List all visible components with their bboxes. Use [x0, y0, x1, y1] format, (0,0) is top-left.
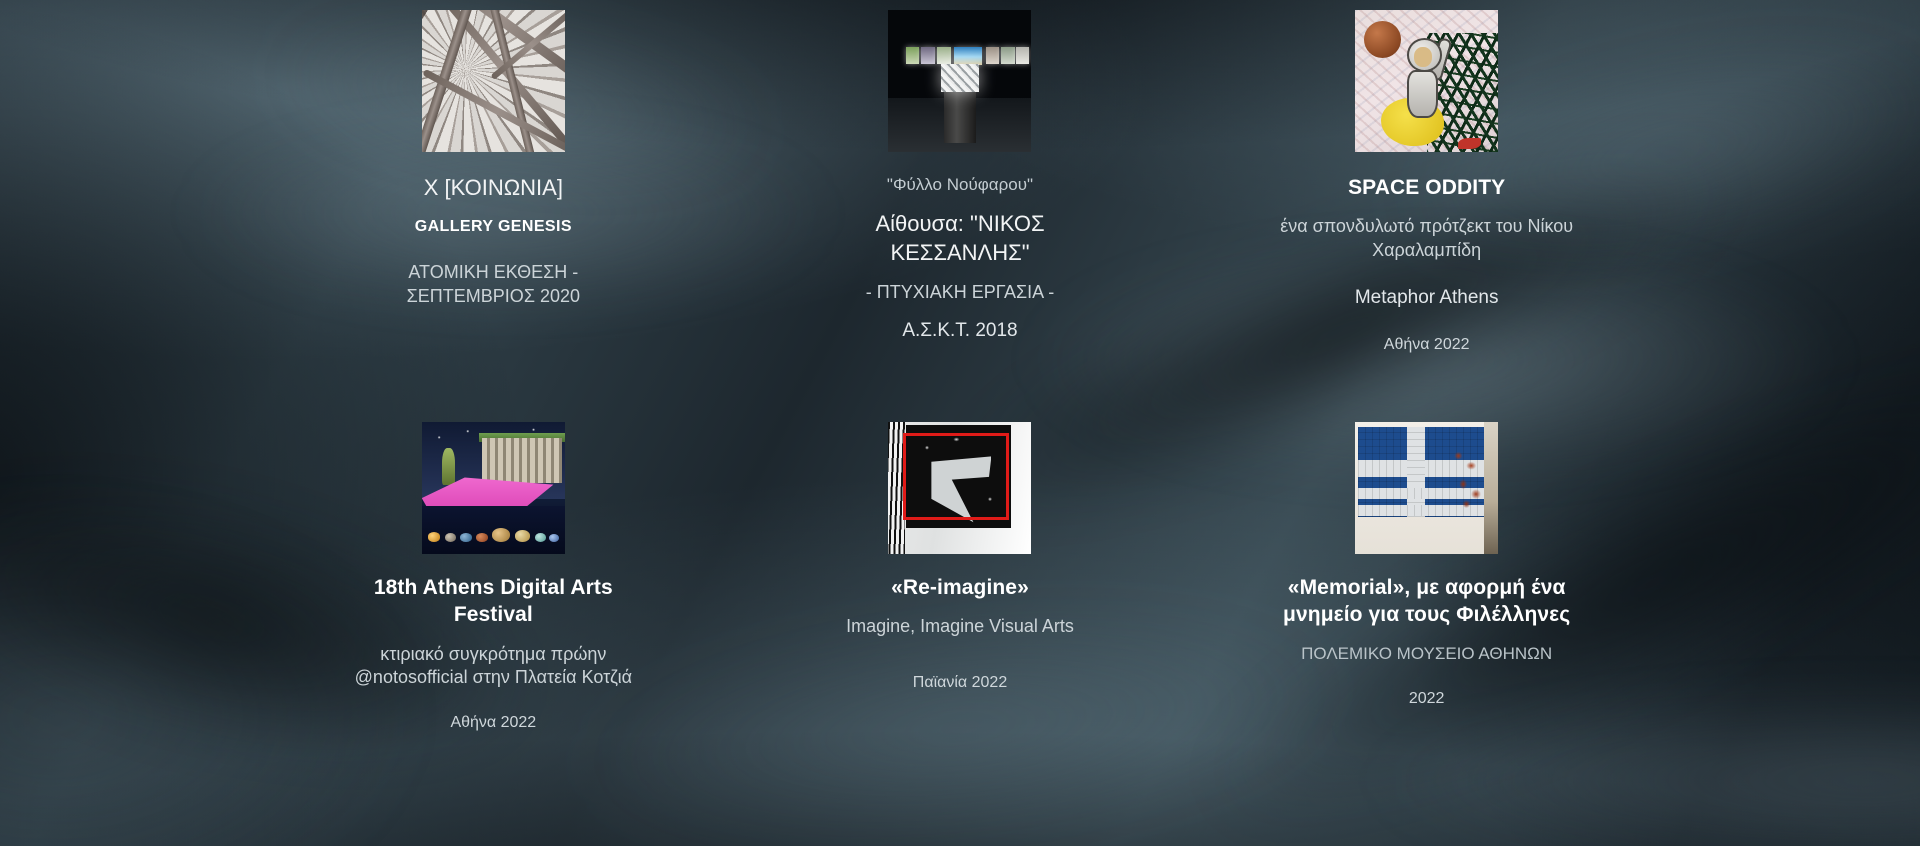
card-detail-line-1: - ΠΤΥΧΙΑΚΗ ΕΡΓΑΣΙΑ - — [727, 281, 1194, 304]
rust-stain — [1452, 443, 1483, 514]
parthenon-columns — [482, 438, 562, 483]
artwork-image — [422, 422, 565, 554]
cracked-branches-artwork-thumbnail[interactable] — [422, 10, 565, 152]
card-title: «Re-imagine» — [727, 574, 1194, 601]
card-caption: Χ [ΚΟΙΝΩΝΙΑ] GALLERY GENESIS ΑΤΟΜΙΚΗ ΕΚΘ… — [260, 174, 727, 308]
gallery-card-space-oddity[interactable]: SPACE ODDITY ένα σπονδυλωτό πρότζεκτ του… — [1193, 0, 1660, 408]
gallery-card-athens-digital-arts-festival[interactable]: 18th Athens Digital Arts Festival κτιρια… — [260, 408, 727, 846]
gallery-card-x-koinonia[interactable]: Χ [ΚΟΙΝΩΝΙΑ] GALLERY GENESIS ΑΤΟΜΙΚΗ ΕΚΘ… — [260, 0, 727, 408]
artwork-image — [888, 10, 1031, 152]
portfolio-grid: Χ [ΚΟΙΝΩΝΙΑ] GALLERY GENESIS ΑΤΟΜΙΚΗ ΕΚΘ… — [0, 0, 1920, 846]
card-caption: «Memorial», με αφορμή ένα μνημείο για το… — [1193, 574, 1660, 709]
dark-gallery-room-thumbnail[interactable] — [888, 10, 1031, 152]
card-subtitle: GALLERY GENESIS — [260, 217, 727, 238]
planet-icon — [549, 534, 559, 542]
card-title-line-1: «Memorial», με αφορμή ένα — [1193, 574, 1660, 601]
card-title-line-2: Festival — [260, 601, 727, 628]
astronaut-face — [1414, 47, 1433, 67]
pedestal — [944, 90, 975, 144]
card-detail-line-2: Χαραλαμπίδη — [1193, 239, 1660, 262]
card-detail-line-1: ένα σπονδυλωτό πρότζεκτ του Νίκου — [1193, 215, 1660, 238]
wall-edge — [1484, 422, 1498, 554]
planet-icon — [476, 533, 487, 542]
card-detail-line-2: Α.Σ.Κ.Τ. 2018 — [727, 319, 1194, 344]
card-title-line-1: Αίθουσα: "ΝΙΚΟΣ — [727, 210, 1194, 239]
card-detail-line-1: ΑΤΟΜΙΚΗ ΕΚΘΕΣΗ - — [260, 261, 727, 284]
planet-icon — [445, 533, 456, 542]
artwork-image — [888, 422, 1031, 554]
card-detail-line-2: @notosofficial στην Πλατεία Κοτζιά — [260, 666, 727, 689]
wall-frame — [1001, 47, 1015, 64]
wall-frame — [1016, 47, 1030, 64]
red-frame-overlay — [903, 433, 1009, 520]
card-caption: SPACE ODDITY ένα σπονδυλωτό πρότζεκτ του… — [1193, 174, 1660, 356]
card-venue: Imagine, Imagine Visual Arts — [727, 615, 1194, 638]
planet-icon — [535, 533, 546, 542]
card-venue: Metaphor Athens — [1193, 286, 1660, 311]
card-detail-line-2: ΣΕΠΤΕΜΒΡΙΟΣ 2020 — [260, 285, 727, 308]
planet-shape — [1364, 21, 1401, 58]
planet-icon — [428, 532, 441, 542]
astronaut-collage-thumbnail[interactable] — [1355, 10, 1498, 152]
card-caption: 18th Athens Digital Arts Festival κτιρια… — [260, 574, 727, 734]
artwork-image — [1355, 422, 1498, 554]
statue-figure — [442, 448, 455, 485]
wall-frame — [986, 47, 1000, 64]
card-title: Χ [ΚΟΙΝΩΝΙΑ] — [260, 174, 727, 203]
greek-flag-bottlecaps-thumbnail[interactable] — [1355, 422, 1498, 554]
card-location-year: Αθήνα 2022 — [260, 713, 727, 734]
card-venue: ΠΟΛΕΜΙΚΟ ΜΟΥΣΕΙΟ ΑΘΗΝΩΝ — [1193, 643, 1660, 665]
planet-icon — [492, 528, 511, 541]
gallery-card-memorial[interactable]: «Memorial», με αφορμή ένα μνημείο για το… — [1193, 408, 1660, 846]
gallery-card-fyllo-noufarou[interactable]: "Φύλλο Νούφαρου" Αίθουσα: "ΝΙΚΟΣ ΚΕΣΣΑΝΛ… — [727, 0, 1194, 408]
planets-strip — [422, 506, 565, 554]
wall-frame — [921, 47, 935, 64]
card-title-line-2: ΚΕΣΣΑΝΛΗΣ" — [727, 239, 1194, 268]
astronaut-body — [1407, 70, 1438, 118]
card-caption: «Re-imagine» Imagine, Imagine Visual Art… — [727, 574, 1194, 693]
planet-icon — [515, 530, 531, 541]
parthenon-planets-collage-thumbnail[interactable] — [422, 422, 565, 554]
card-title-line-1: 18th Athens Digital Arts — [260, 574, 727, 601]
artwork-image — [422, 10, 565, 152]
card-artwork-quote: "Φύλλο Νούφαρου" — [727, 174, 1194, 196]
card-year: 2022 — [1193, 689, 1660, 710]
planet-icon — [460, 533, 471, 542]
card-title-line-2: μνημείο για τους Φιλέλληνες — [1193, 601, 1660, 628]
card-caption: "Φύλλο Νούφαρου" Αίθουσα: "ΝΙΚΟΣ ΚΕΣΣΑΝΛ… — [727, 174, 1194, 343]
artwork-image — [1355, 10, 1498, 152]
card-title: SPACE ODDITY — [1193, 174, 1660, 201]
wall-frame-large — [954, 47, 983, 65]
card-detail-line-1: κτιριακό συγκρότημα πρώην — [260, 643, 727, 666]
card-location-year: Παϊανία 2022 — [727, 673, 1194, 694]
card-location-year: Αθήνα 2022 — [1193, 335, 1660, 356]
gallery-card-re-imagine[interactable]: «Re-imagine» Imagine, Imagine Visual Art… — [727, 408, 1194, 846]
wall-frame — [937, 47, 951, 64]
wall-frame — [906, 47, 920, 64]
black-white-red-frame-artwork-thumbnail[interactable] — [888, 422, 1031, 554]
flag-cross-vertical — [1407, 427, 1426, 517]
pedestal-artwork — [941, 64, 978, 92]
